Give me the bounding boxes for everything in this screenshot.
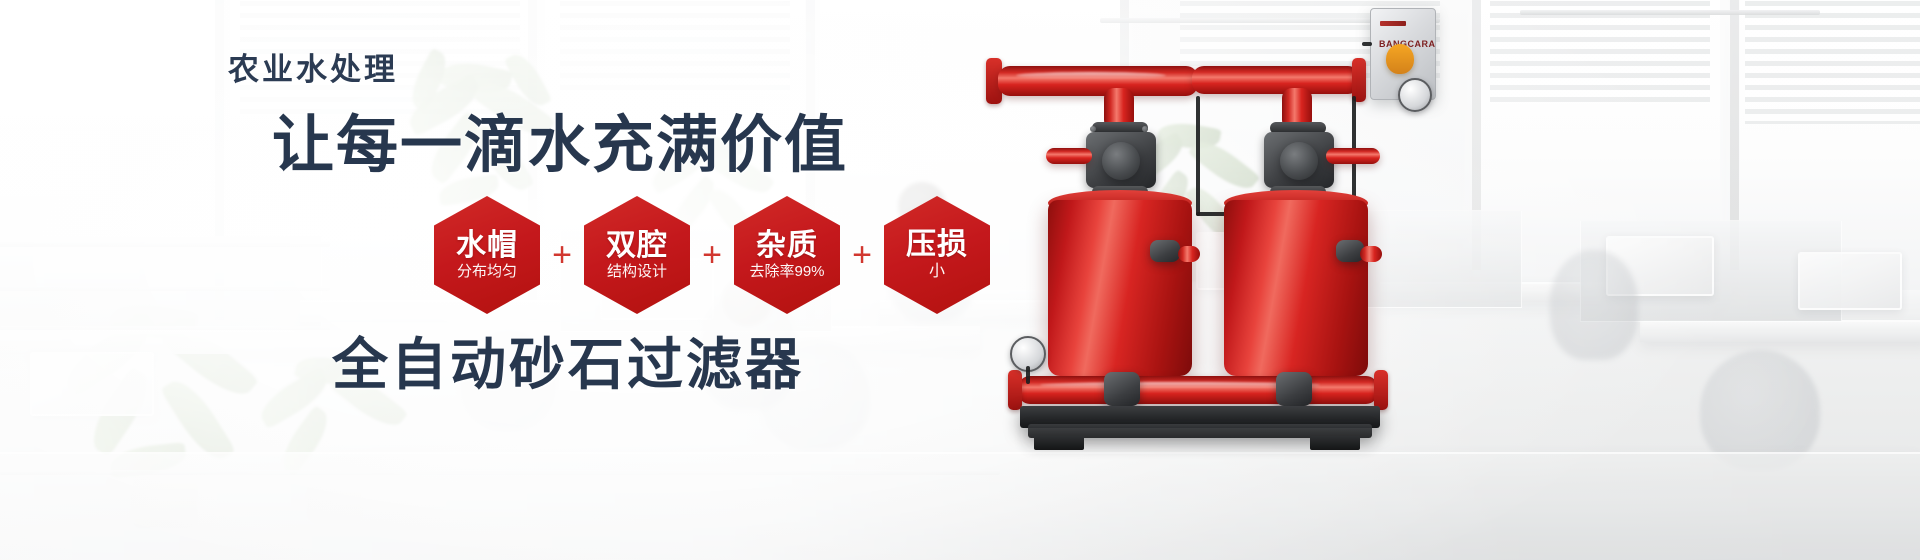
inlet-pipe: [998, 66, 1198, 96]
feature-title: 双腔: [606, 230, 668, 262]
pipe-flange: [1008, 370, 1022, 410]
feature-badge-row: 水帽 分布均匀 + 双腔 结构设计 + 杂质 去除率99% + 压损 小: [432, 196, 992, 314]
relief-valve: [1386, 44, 1414, 74]
base-foot: [1310, 436, 1360, 450]
feature-subtitle: 分布均匀: [457, 264, 517, 281]
feature-title: 水帽: [456, 230, 518, 262]
feature-badge-shuimao: 水帽 分布均匀: [434, 196, 540, 314]
product-equipment-image: BANGCARA: [1000, 0, 1560, 560]
outlet-pipe: [1192, 66, 1360, 94]
control-cable: [1196, 96, 1200, 216]
bottom-manifold-pipe: [1018, 376, 1378, 404]
feature-badge-yasun: 压损 小: [884, 196, 990, 314]
control-box-display: [1380, 21, 1406, 26]
bottom-valve: [1276, 372, 1312, 406]
pipe-flange: [1374, 370, 1388, 410]
feature-title: 杂质: [756, 230, 818, 262]
pipe-highlight: [1016, 72, 1166, 79]
filter-tank-right: [1224, 200, 1368, 376]
feature-subtitle: 结构设计: [607, 264, 667, 281]
eyebrow-text: 农业水处理: [228, 44, 398, 89]
side-stub-pipe: [1046, 148, 1092, 164]
valve-bolt: [1142, 126, 1148, 132]
plus-separator-icon: +: [842, 238, 882, 272]
valve-bolt: [1090, 126, 1096, 132]
filter-tank-left: [1048, 200, 1192, 376]
base-foot: [1034, 436, 1084, 450]
headline-text: 让每一滴水充满价值: [272, 94, 848, 184]
feature-subtitle: 小: [929, 263, 945, 281]
side-stub-pipe: [1326, 148, 1380, 164]
promo-banner: 农业水处理 让每一滴水充满价值 水帽 分布均匀 + 双腔 结构设计 + 杂质 去…: [0, 0, 1920, 560]
gauge-cable: [1026, 366, 1030, 384]
feature-subtitle: 去除率99%: [749, 264, 824, 281]
plus-separator-icon: +: [542, 238, 582, 272]
tank-side-nozzle: [1360, 246, 1382, 262]
control-cable: [1362, 42, 1372, 46]
pressure-gauge-top: [1398, 78, 1432, 112]
bottom-valve: [1104, 372, 1140, 406]
plus-separator-icon: +: [692, 238, 732, 272]
feature-title: 压损: [906, 229, 968, 261]
feature-badge-shuangqiang: 双腔 结构设计: [584, 196, 690, 314]
feature-badge-zazhi: 杂质 去除率99%: [734, 196, 840, 314]
copy-block: 农业水处理 让每一滴水充满价值 水帽 分布均匀 + 双腔 结构设计 + 杂质 去…: [0, 0, 1000, 560]
tank-side-port: [1150, 240, 1180, 262]
tank-side-nozzle: [1178, 246, 1200, 262]
product-title-text: 全自动砂石过滤器: [332, 320, 804, 401]
valve-cap-right: [1280, 142, 1318, 180]
valve-cap-left: [1102, 142, 1140, 180]
